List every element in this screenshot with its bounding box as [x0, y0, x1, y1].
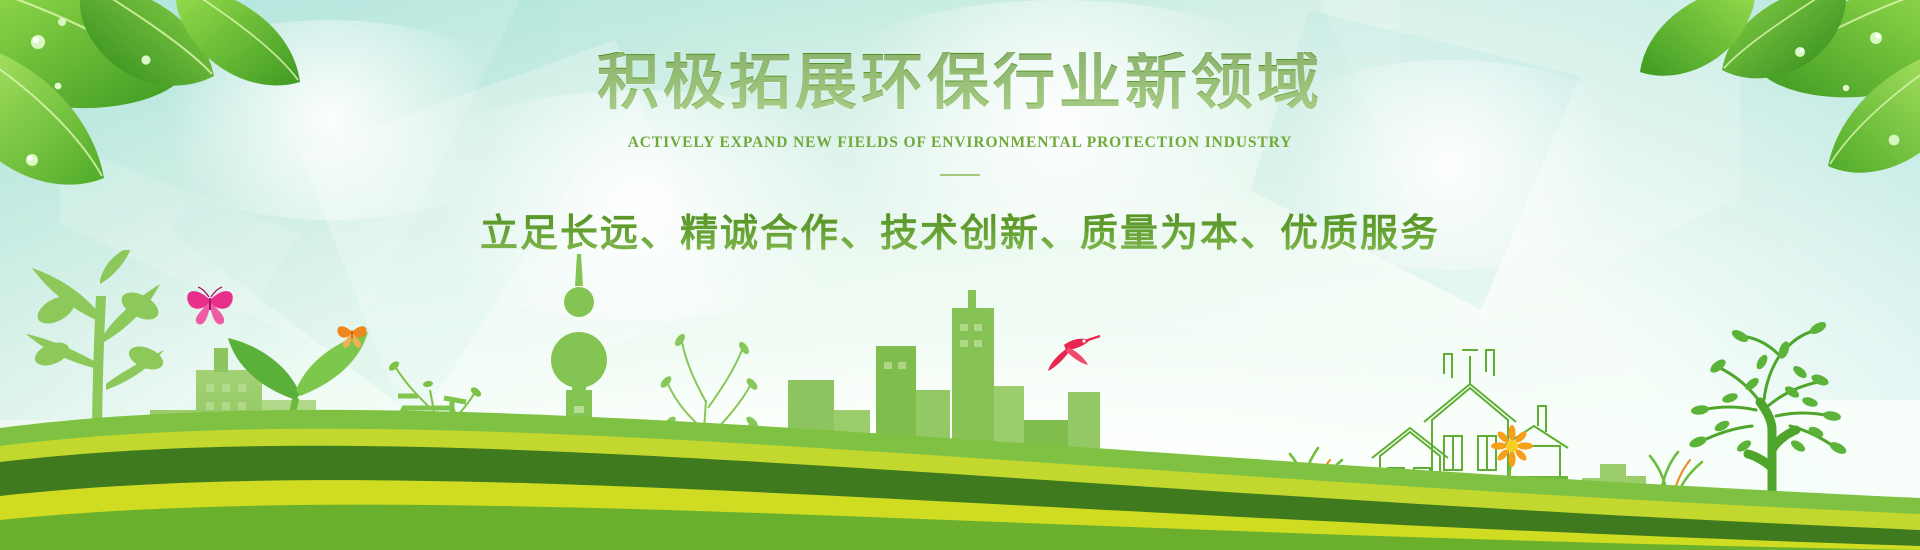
wave-bands-icon: [0, 350, 1920, 550]
page-subtitle: ACTIVELY EXPAND NEW FIELDS OF ENVIRONMEN…: [0, 134, 1920, 152]
tagline: 立足长远、精诚合作、技术创新、质量为本、优质服务: [0, 202, 1920, 257]
divider: [940, 174, 980, 176]
eco-banner: 积极拓展环保行业新领域 ACTIVELY EXPAND NEW FIELDS O…: [0, 0, 1920, 550]
page-title: 积极拓展环保行业新领域: [0, 52, 1920, 114]
banner-text-block: 积极拓展环保行业新领域 ACTIVELY EXPAND NEW FIELDS O…: [0, 52, 1920, 257]
